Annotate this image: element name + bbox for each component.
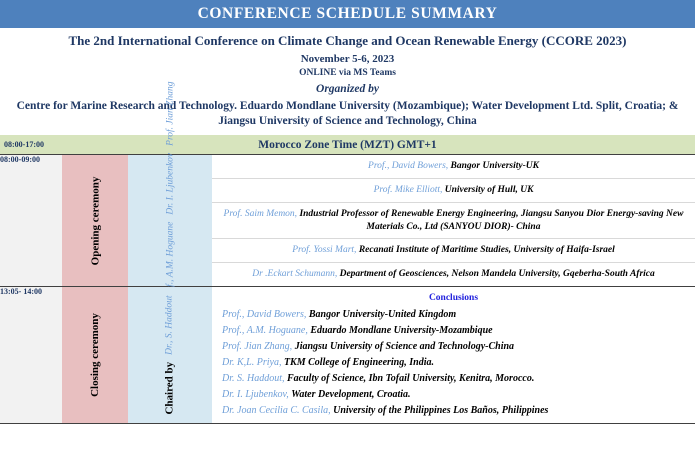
speaker-affiliation: TKM College of Engineering, India. [284, 357, 434, 368]
speaker-affiliation: Recanati Institute of Maritime Studies, … [359, 245, 615, 255]
list-item: Prof., David Bowers, Bangor University-U… [222, 307, 687, 323]
speaker-affiliation: Bangor University-UK [451, 161, 539, 171]
list-item: Dr. K,L. Priya, TKM College of Engineeri… [222, 355, 687, 371]
chair-cell-opening: Chaired by Prof., A.M. Hoguane Dr. I. Lj… [128, 155, 212, 287]
speaker-name: Dr .Eckart Schumann, [252, 269, 337, 279]
talk-row: Prof. Mike Elliott, University of Hull, … [212, 179, 695, 203]
talk-row: Prof., David Bowers, Bangor University-U… [212, 155, 695, 179]
speaker-name: Dr. K,L. Priya, [222, 357, 281, 368]
conference-banner: CONFERENCE SCHEDULE SUMMARY [0, 0, 695, 28]
talk-row: Dr .Eckart Schumann, Department of Geosc… [212, 263, 695, 286]
speaker-name: Dr. I. Ljubenkov, [222, 389, 289, 400]
speaker-name: Prof. Mike Elliott, [374, 185, 443, 195]
organizers-list: Centre for Marine Research and Technolog… [6, 99, 689, 129]
chair-cell-closing: Chaired by Dr., S. Haddout [128, 287, 212, 424]
speaker-affiliation: Jiangsu University of Science and Techno… [295, 341, 514, 352]
list-item: Prof. Jian Zhang, Jiangsu University of … [222, 339, 687, 355]
chair-name: Prof. Jian Zhang [165, 81, 175, 145]
list-item: Dr. I. Ljubenkov, Water Development, Cro… [222, 387, 687, 403]
session-row-opening: 08:00-09:00 Opening ceremony Chaired by … [0, 155, 695, 287]
timezone-time-range: 08:00-17:00 [4, 140, 44, 149]
conference-dates: November 5-6, 2023 [6, 53, 689, 65]
speaker-name: Prof., David Bowers, [368, 161, 448, 171]
list-item: Prof., A.M. Hoguane, Eduardo Mondlane Un… [222, 323, 687, 339]
conference-header: The 2nd International Conference on Clim… [0, 28, 695, 132]
session-time-closing: 13:05- 14:00 [0, 287, 62, 424]
timezone-label: Morocco Zone Time (MZT) GMT+1 [0, 139, 695, 151]
banner-title: CONFERENCE SCHEDULE SUMMARY [198, 5, 498, 23]
ceremony-label-closing: Closing ceremony [89, 313, 101, 397]
conclusions-list: Prof., David Bowers, Bangor University-U… [212, 307, 695, 423]
chaired-by-label-closing: Chaired by [164, 362, 176, 415]
schedule-body: 08:00-09:00 Opening ceremony Chaired by … [0, 155, 695, 424]
speaker-affiliation: Industrial Professor of Renewable Energy… [299, 209, 683, 232]
chair-name: Dr., S. Haddout [165, 295, 175, 354]
list-item: Dr. Joan Cecilia C. Casila, University o… [222, 403, 687, 419]
speaker-affiliation: Department of Geosciences, Nelson Mandel… [340, 269, 655, 279]
session-content-closing: Conclusions Prof., David Bowers, Bangor … [212, 287, 695, 424]
talk-row: Prof. Saim Memon, Industrial Professor o… [212, 203, 695, 240]
session-time-opening: 08:00-09:00 [0, 155, 62, 287]
conference-mode: ONLINE via MS Teams [6, 68, 689, 78]
speaker-affiliation: Water Development, Croatia. [291, 389, 410, 400]
timezone-bar: 08:00-17:00 Morocco Zone Time (MZT) GMT+… [0, 135, 695, 154]
session-content-opening: Prof., David Bowers, Bangor University-U… [212, 155, 695, 287]
speaker-affiliation: Eduardo Mondlane University-Mozambique [310, 325, 492, 336]
speaker-affiliation: Faculty of Science, Ibn Tofail Universit… [287, 373, 534, 384]
list-item: Dr. S. Haddout, Faculty of Science, Ibn … [222, 371, 687, 387]
speaker-name: Prof. Saim Memon, [224, 209, 298, 219]
speaker-name: Prof. Jian Zhang, [222, 341, 292, 352]
speaker-name: Prof. Yossi Mart, [292, 245, 356, 255]
speaker-affiliation: Bangor University-United Kingdom [309, 309, 456, 320]
speaker-name: Dr. S. Haddout, [222, 373, 285, 384]
speaker-name: Prof., David Bowers, [222, 309, 306, 320]
speaker-name: Prof., A.M. Hoguane, [222, 325, 308, 336]
speaker-name: Dr. Joan Cecilia C. Casila, [222, 405, 331, 416]
ceremony-label-opening: Opening ceremony [89, 176, 101, 265]
ceremony-cell-closing: Closing ceremony [62, 287, 128, 424]
chair-name: Dr. I. Ljubenkov [165, 152, 175, 214]
session-row-closing: 13:05- 14:00 Closing ceremony Chaired by… [0, 287, 695, 424]
schedule-table: 08:00-09:00 Opening ceremony Chaired by … [0, 154, 695, 424]
conclusions-heading: Conclusions [212, 287, 695, 307]
talk-row: Prof. Yossi Mart, Recanati Institute of … [212, 239, 695, 263]
speaker-affiliation: University of the Philippines Los Baños,… [333, 405, 548, 416]
conference-name: The 2nd International Conference on Clim… [6, 33, 689, 49]
organized-by-label: Organized by [6, 83, 689, 95]
ceremony-cell-opening: Opening ceremony [62, 155, 128, 287]
speaker-affiliation: University of Hull, UK [445, 185, 534, 195]
